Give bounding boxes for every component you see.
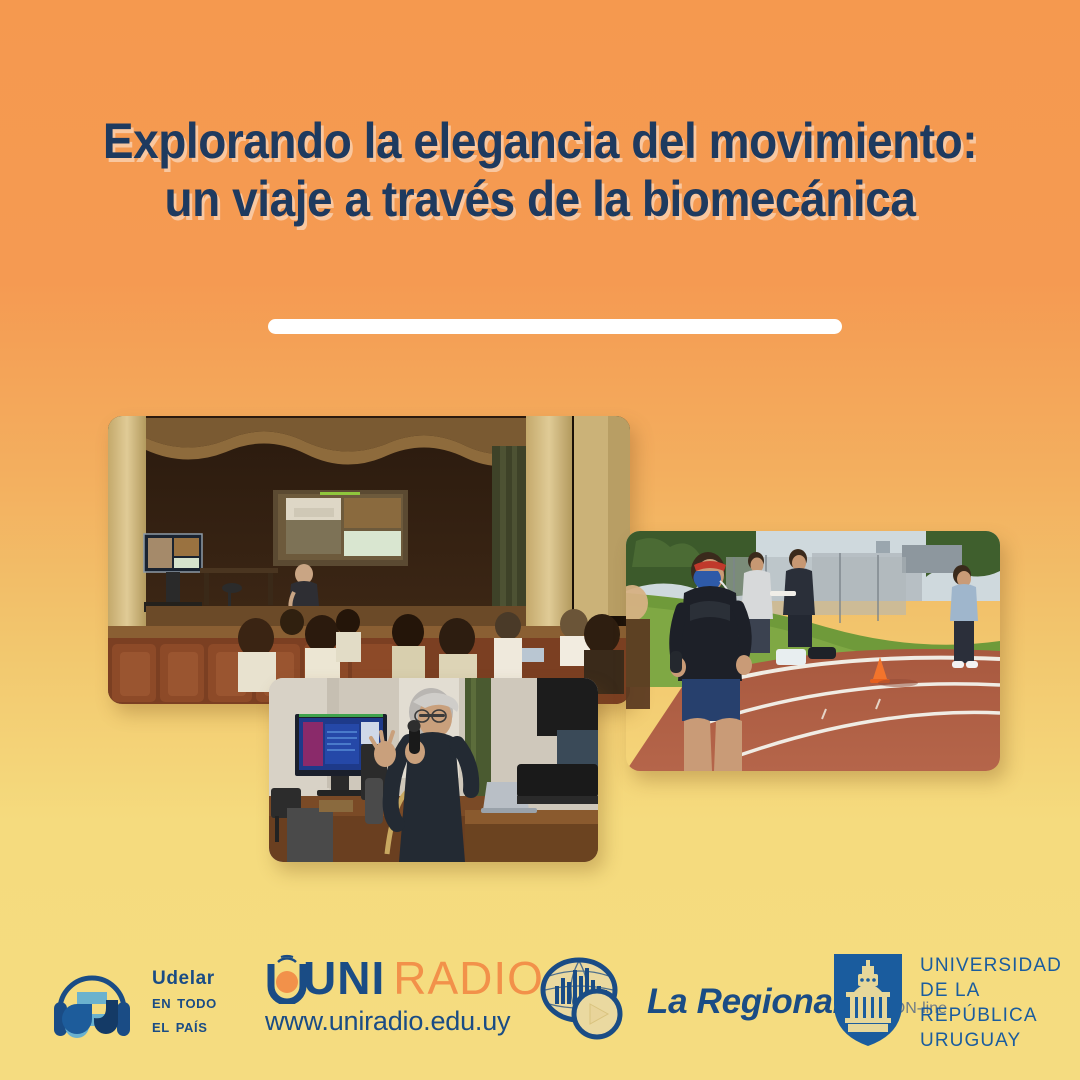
udelar-line-1: Udelar bbox=[152, 967, 217, 991]
photo-athletics-track-test bbox=[626, 531, 1000, 771]
globe-play-icon bbox=[535, 956, 633, 1047]
poster-canvas: Explorando la elegancia del movimiento: … bbox=[0, 0, 1080, 1080]
universidad-line-3: URUGUAY bbox=[920, 1028, 1080, 1053]
photo-auditorium-lecture bbox=[108, 416, 630, 704]
la-regional-title: La Regional bbox=[647, 982, 842, 1021]
divider-bar bbox=[268, 319, 842, 334]
logo-universidad-de-la-republica[interactable]: UNIVERSIDAD DE LA REPÚBLICA URUGUAY bbox=[832, 952, 1080, 1053]
photo-speaker-with-microphone bbox=[269, 678, 598, 862]
shield-crest-icon bbox=[832, 952, 904, 1053]
udelar-wordmark: Udelar en todo el país bbox=[152, 967, 217, 1039]
uniradio-word-radio: RADIO bbox=[393, 955, 544, 1001]
logo-udelar-en-todo-el-pais[interactable]: Udelar en todo el país bbox=[44, 952, 217, 1053]
logo-uniradio[interactable]: UNI RADIO www.uniradio.edu.uy bbox=[265, 952, 544, 1036]
udelar-line-2: en todo bbox=[152, 991, 217, 1015]
title-line-2: un viaje a través de la biomecánica bbox=[43, 170, 1037, 228]
uniradio-url[interactable]: www.uniradio.edu.uy bbox=[265, 1006, 510, 1036]
universidad-wordmark: UNIVERSIDAD DE LA REPÚBLICA URUGUAY bbox=[920, 953, 1080, 1053]
footer-logo-bar: Udelar en todo el país UNI bbox=[0, 938, 1080, 1080]
uniradio-word-uni: UNI bbox=[303, 955, 385, 1001]
universidad-line-1: UNIVERSIDAD bbox=[920, 953, 1080, 978]
headphones-icon bbox=[44, 952, 140, 1053]
wifi-signal-icon bbox=[265, 952, 309, 1004]
page-title: Explorando la elegancia del movimiento: … bbox=[0, 112, 1080, 228]
udelar-line-3: el país bbox=[152, 1015, 217, 1039]
title-line-1: Explorando la elegancia del movimiento: bbox=[43, 112, 1037, 170]
universidad-line-2: DE LA REPÚBLICA bbox=[920, 978, 1080, 1028]
